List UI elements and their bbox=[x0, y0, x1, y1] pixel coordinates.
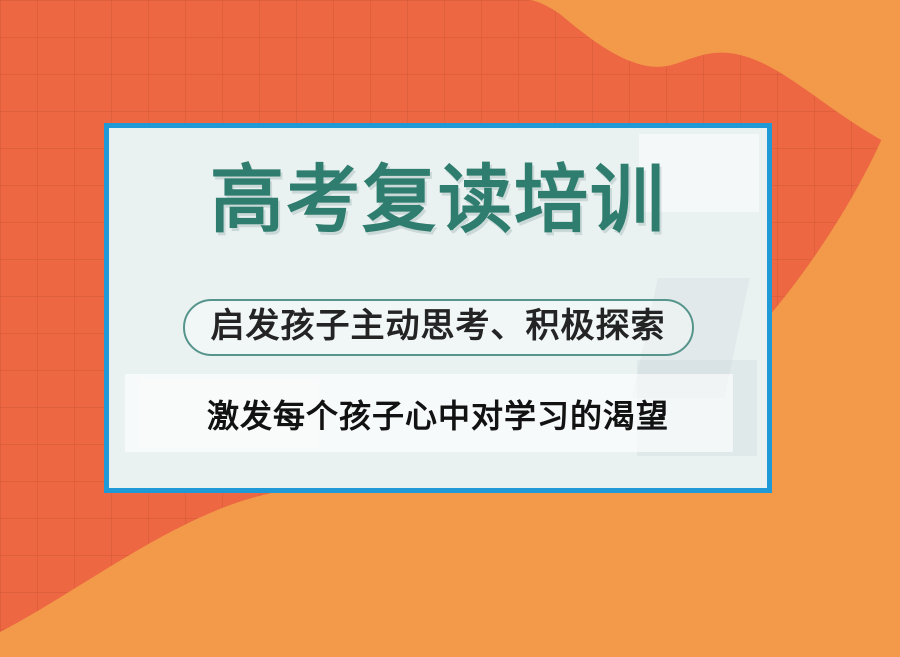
subtitle-pill-container: 启发孩子主动思考、积极探索 bbox=[109, 299, 767, 356]
card-title: 高考复读培训 bbox=[109, 163, 767, 237]
card-tagline: 激发每个孩子心中对学习的渴望 bbox=[109, 400, 767, 432]
card-inner: 高考复读培训 启发孩子主动思考、积极探索 激发每个孩子心中对学习的渴望 bbox=[109, 128, 767, 488]
promo-card: 高考复读培训 启发孩子主动思考、积极探索 激发每个孩子心中对学习的渴望 bbox=[104, 123, 772, 493]
poster-canvas: 高考复读培训 启发孩子主动思考、积极探索 激发每个孩子心中对学习的渴望 bbox=[0, 0, 900, 657]
card-subtitle-pill: 启发孩子主动思考、积极探索 bbox=[183, 299, 694, 356]
card-content: 高考复读培训 启发孩子主动思考、积极探索 激发每个孩子心中对学习的渴望 bbox=[109, 128, 767, 488]
